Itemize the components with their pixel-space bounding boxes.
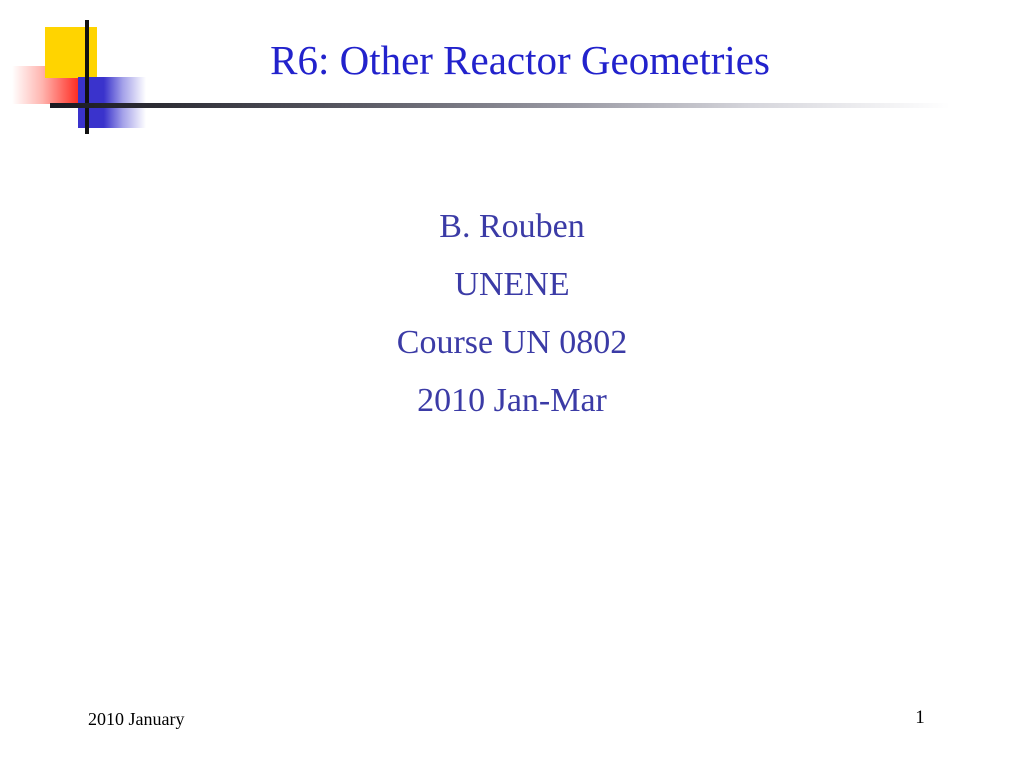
- footer-date: 2010 January: [88, 709, 184, 730]
- footer-page-number: 1: [900, 707, 940, 729]
- slide-title: R6: Other Reactor Geometries: [140, 36, 900, 84]
- body-line-author: B. Rouben: [112, 198, 912, 256]
- horizontal-fading-rule-icon: [50, 103, 950, 108]
- vertical-black-bar-icon: [85, 20, 89, 134]
- body-line-period: 2010 Jan-Mar: [112, 372, 912, 430]
- slide: R6: Other Reactor Geometries B. Rouben U…: [0, 0, 1024, 768]
- yellow-square-icon: [45, 27, 97, 78]
- blue-gradient-rectangle-icon: [78, 77, 146, 128]
- red-gradient-rectangle-icon: [12, 66, 79, 104]
- body-line-organization: UNENE: [112, 256, 912, 314]
- body-line-course: Course UN 0802: [112, 314, 912, 372]
- slide-body: B. Rouben UNENE Course UN 0802 2010 Jan-…: [112, 198, 912, 430]
